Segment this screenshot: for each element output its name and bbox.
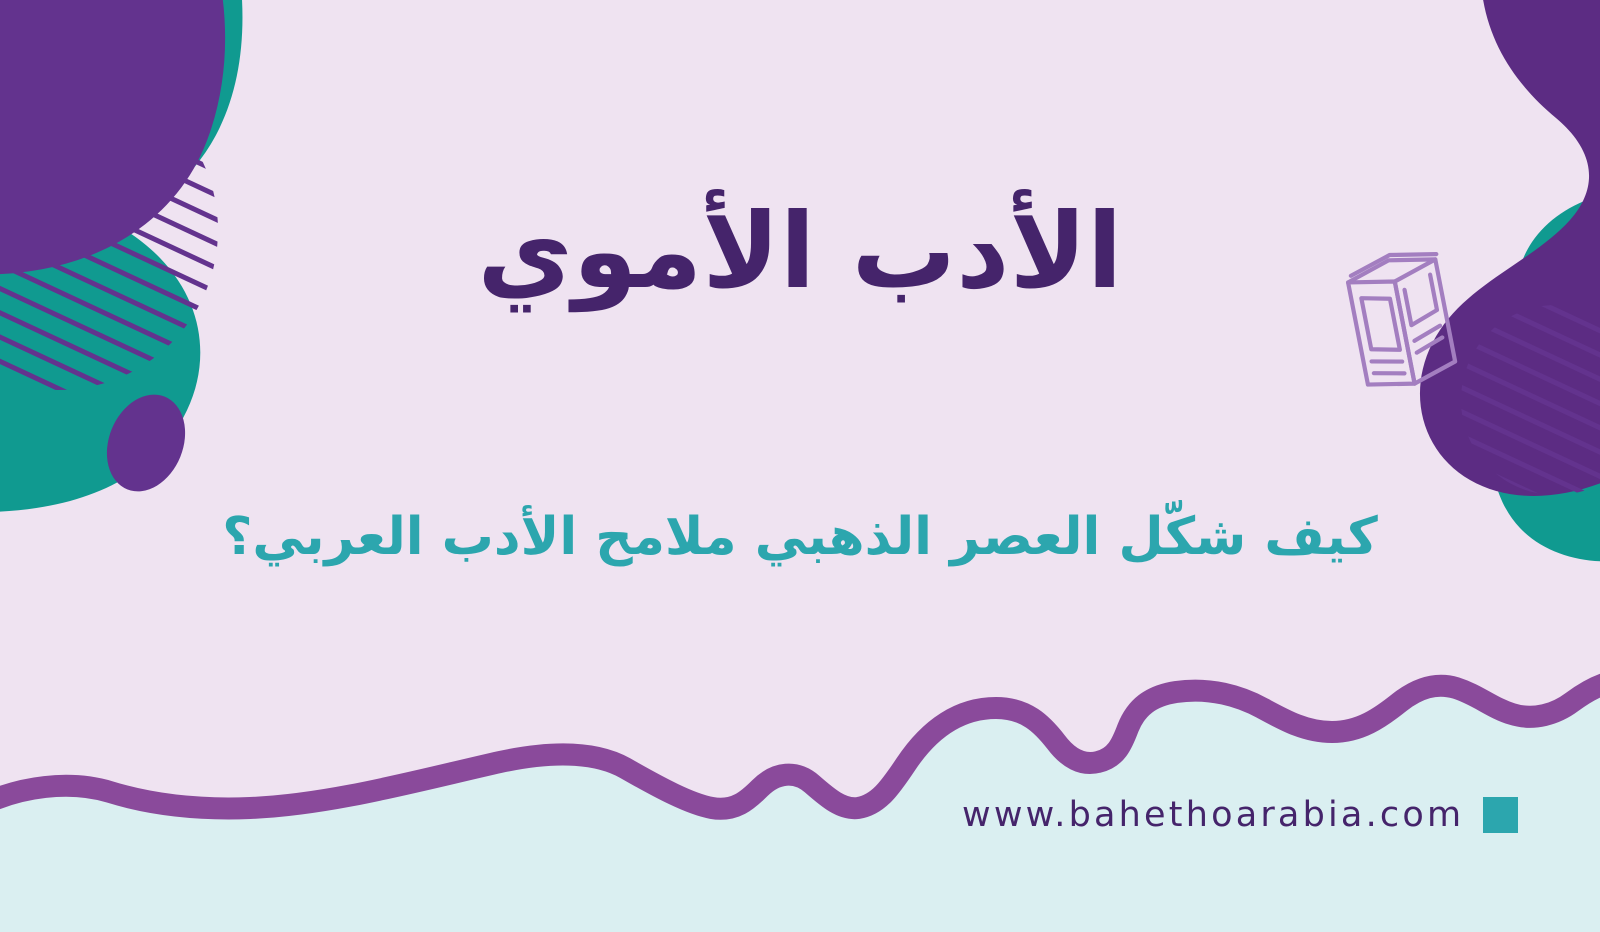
page-subtitle: كيف شكّل العصر الذهبي ملامح الأدب العربي… [0, 504, 1600, 572]
footer-url[interactable]: www.bahethoarabia.com [962, 795, 1518, 835]
banner-canvas: الأدب الأموي كيف شكّل العصر الذهبي ملامح… [0, 0, 1600, 932]
page-title: الأدب الأموي [0, 186, 1600, 316]
website-url-text[interactable]: www.bahethoarabia.com [962, 795, 1464, 835]
square-bullet-icon [1483, 797, 1518, 833]
